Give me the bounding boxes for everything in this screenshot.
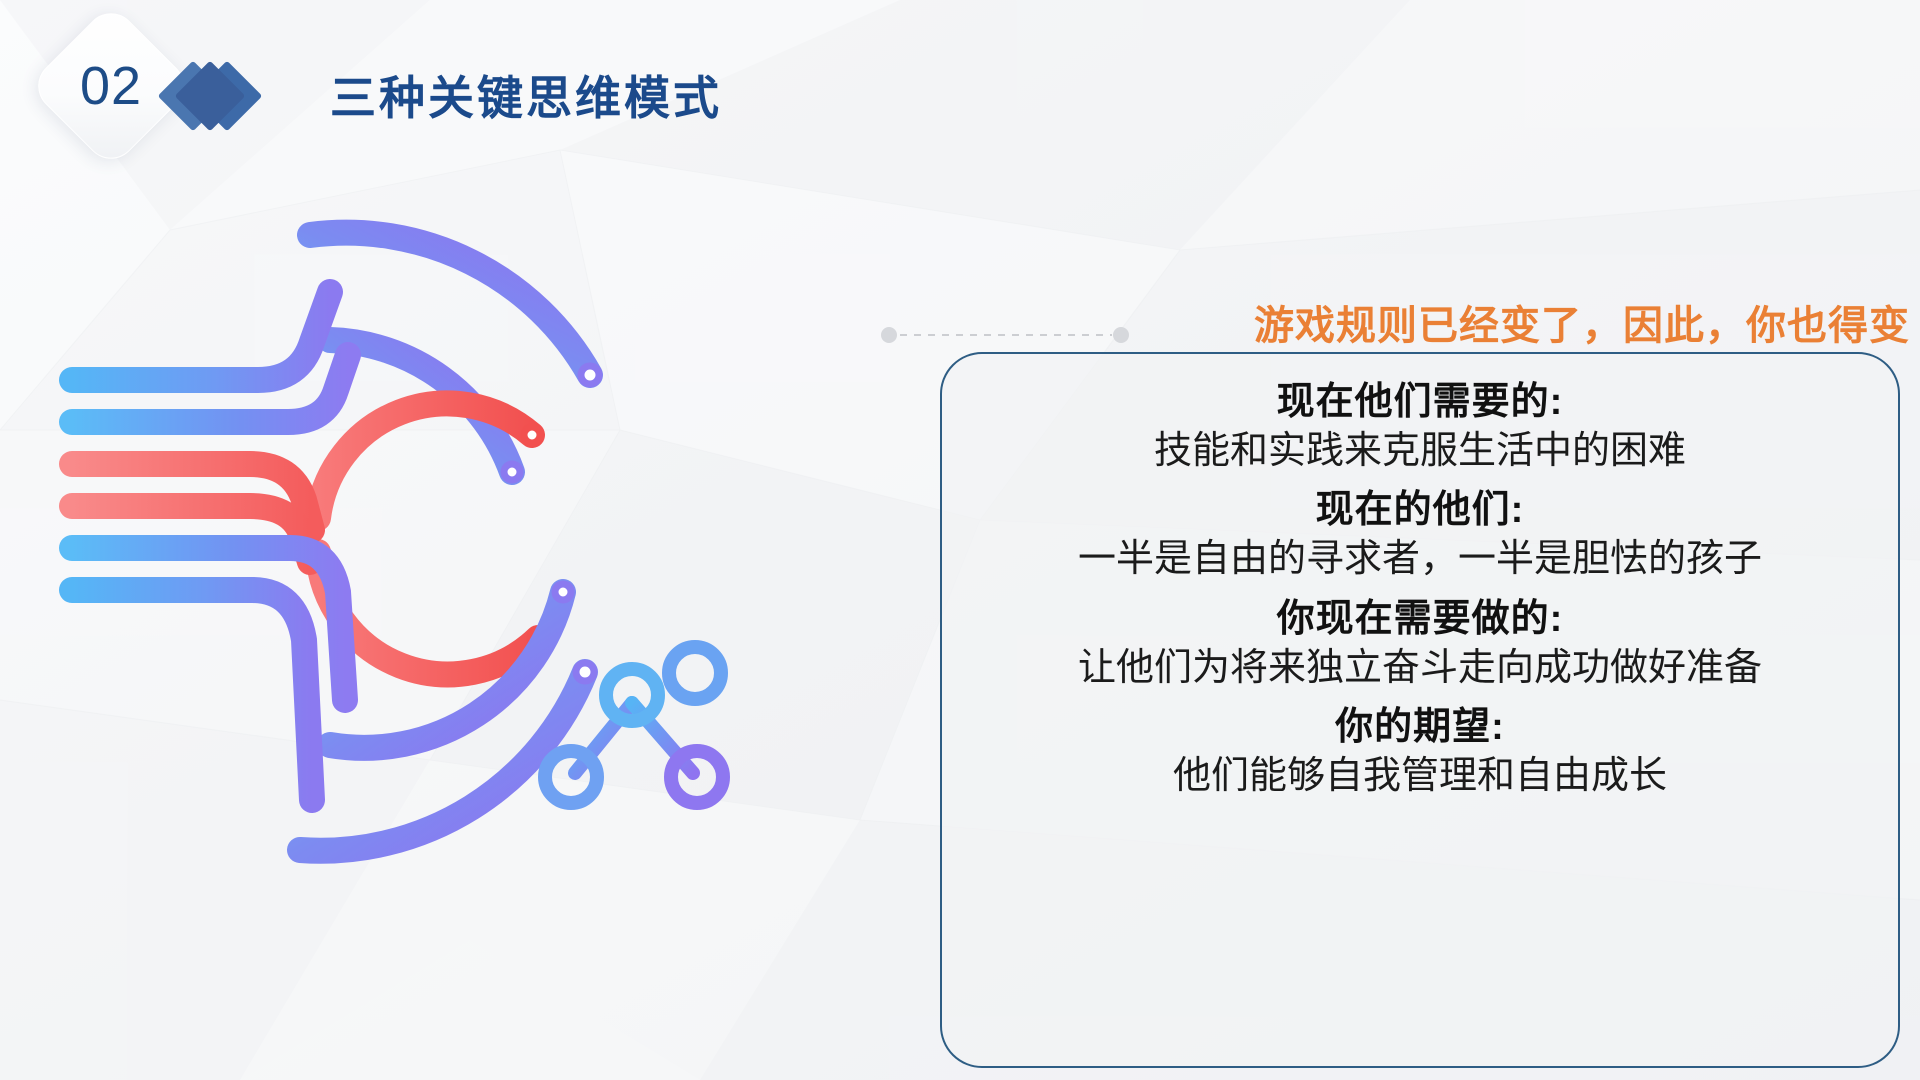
content-block: 你的期望: 他们能够自我管理和自由成长 xyxy=(976,705,1864,813)
headline-text: 游戏规则已经变了，因此，你也得变 xyxy=(1120,293,1910,349)
block-text: 他们能够自我管理和自由成长 xyxy=(976,754,1864,800)
block-text: 一半是自由的寻求者，一半是胆怯的孩子 xyxy=(976,537,1864,583)
block-label: 你的期望: xyxy=(976,705,1864,750)
page-title: 三种关键思维模式 xyxy=(330,62,722,128)
content-block: 现在他们需要的: 技能和实践来克服生活中的困难 xyxy=(976,380,1864,488)
block-label: 现在他们需要的: xyxy=(976,380,1864,425)
network-flow-illustration xyxy=(0,200,950,940)
block-label: 你现在需要做的: xyxy=(976,597,1864,642)
double-diamond-icon xyxy=(168,60,260,132)
content-block: 现在的他们: 一半是自由的寻求者，一半是胆怯的孩子 xyxy=(976,488,1864,596)
content-box: 现在他们需要的: 技能和实践来克服生活中的困难 现在的他们: 一半是自由的寻求者… xyxy=(940,352,1900,1068)
block-label: 现在的他们: xyxy=(976,488,1864,533)
content-block: 你现在需要做的: 让他们为将来独立奋斗走向成功做好准备 xyxy=(976,597,1864,705)
section-number: 02 xyxy=(52,27,170,145)
dotted-connector xyxy=(880,320,1130,350)
block-text: 技能和实践来克服生活中的困难 xyxy=(976,429,1864,475)
block-text: 让他们为将来独立奋斗走向成功做好准备 xyxy=(976,646,1864,692)
slide-header: 02 三种关键思维模式 xyxy=(0,0,1920,190)
